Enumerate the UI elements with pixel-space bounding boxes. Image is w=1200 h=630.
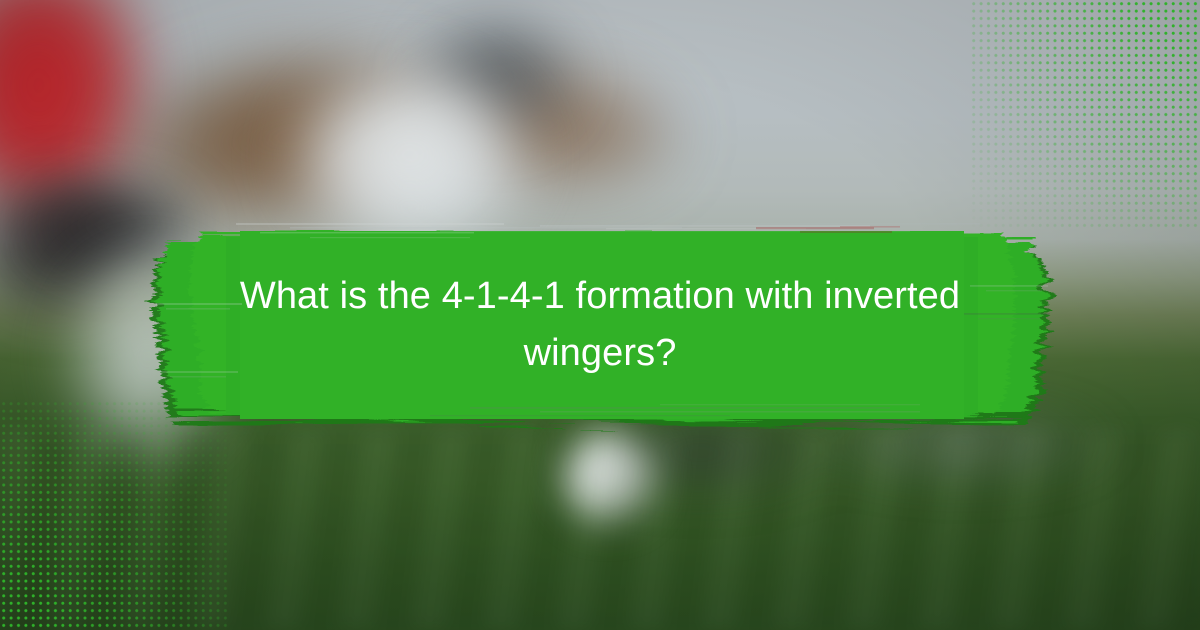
- social-card: What is the 4-1-4-1 formation with inver…: [0, 0, 1200, 630]
- page-title: What is the 4-1-4-1 formation with inver…: [200, 268, 1000, 382]
